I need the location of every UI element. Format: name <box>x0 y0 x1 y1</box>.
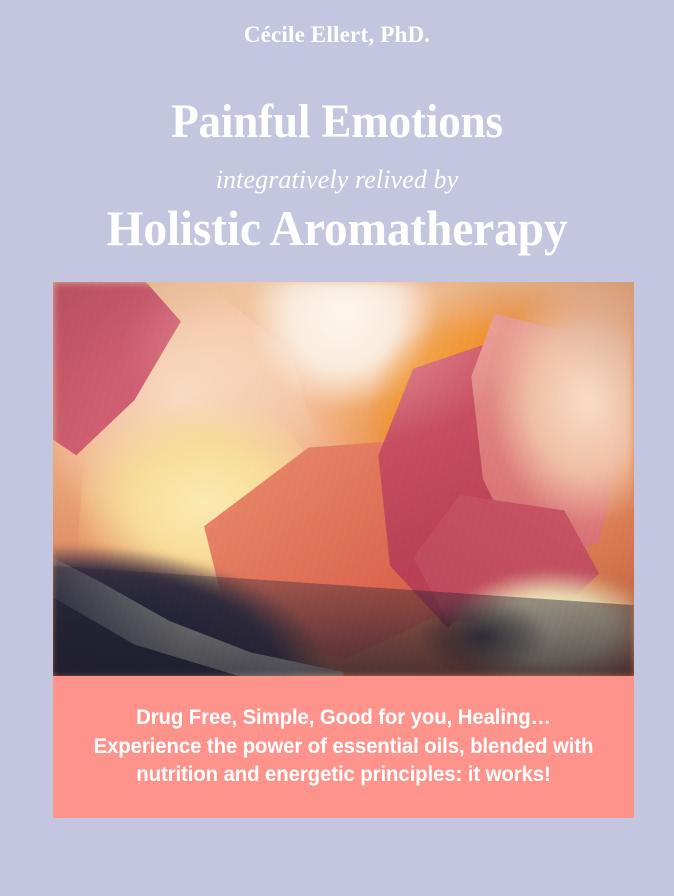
page-title: Painful Emotions <box>20 96 654 149</box>
tagline-text: Drug Free, Simple, Good for you, Healing… <box>62 704 626 791</box>
tagline-line-3: nutrition and energetic principles: it w… <box>73 761 613 790</box>
rose-petals-photo <box>53 282 634 676</box>
cover-text-block: Cécile Ellert, PhD. Painful Emotions int… <box>0 0 674 282</box>
tagline-line-2: Experience the power of essential oils, … <box>73 733 613 762</box>
title-subtitle: Holistic Aromatherapy <box>17 200 657 256</box>
soft-focus-glow <box>53 282 634 676</box>
tagline-panel: Drug Free, Simple, Good for you, Healing… <box>53 676 634 818</box>
tagline-line-1: Drug Free, Simple, Good for you, Healing… <box>73 704 613 733</box>
book-cover: Cécile Ellert, PhD. Painful Emotions int… <box>0 0 674 896</box>
title-connector-text: integratively relived by <box>0 166 674 195</box>
author-name: Cécile Ellert, PhD. <box>0 22 674 47</box>
